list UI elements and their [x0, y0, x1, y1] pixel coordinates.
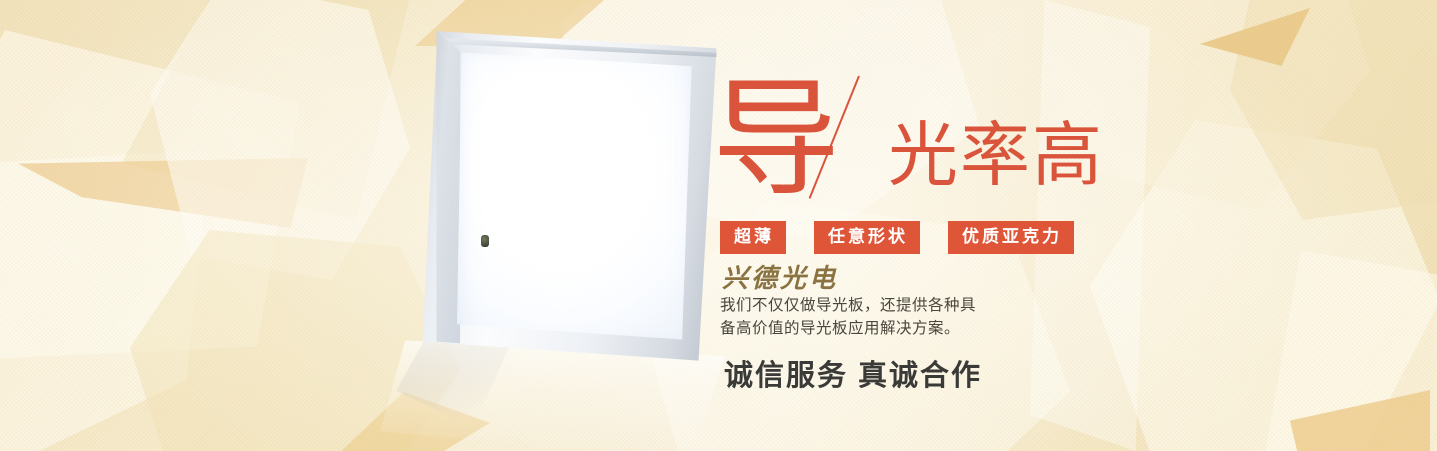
- headline-sub-chars: 光率高: [888, 122, 1104, 202]
- description-line-2: 备高价值的导光板应用解决方案。: [720, 317, 1020, 340]
- badge-any-shape[interactable]: 任意形状: [814, 221, 920, 254]
- banner-content: 导 光率高 超薄 任意形状 优质亚克力 兴德光电 我们不仅仅做导光板，还提供各种…: [712, 0, 1412, 451]
- description-text: 我们不仅仅做导光板，还提供各种具 备高价值的导光板应用解决方案。: [720, 294, 1020, 341]
- badge-ultra-thin[interactable]: 超薄: [720, 221, 786, 254]
- description-line-1: 我们不仅仅做导光板，还提供各种具: [720, 294, 1020, 317]
- badge-premium-acrylic[interactable]: 优质亚克力: [948, 221, 1074, 254]
- brand-name: 兴德光电: [722, 258, 838, 295]
- slogan-text: 诚信服务 真诚合作: [724, 352, 982, 394]
- promo-banner: 导 光率高 超薄 任意形状 优质亚克力 兴德光电 我们不仅仅做导光板，还提供各种…: [0, 0, 1437, 451]
- product-image-led-panel: [360, 0, 760, 451]
- panel-body: [418, 26, 718, 371]
- panel-light-surface: [457, 45, 694, 349]
- headline: 导 光率高: [712, 52, 1104, 202]
- feature-badges: 超薄 任意形状 优质亚克力: [720, 221, 1074, 254]
- headline-big-char: 导: [712, 79, 840, 202]
- slash-separator-icon: [832, 72, 886, 202]
- panel-mounting-screw: [481, 235, 489, 247]
